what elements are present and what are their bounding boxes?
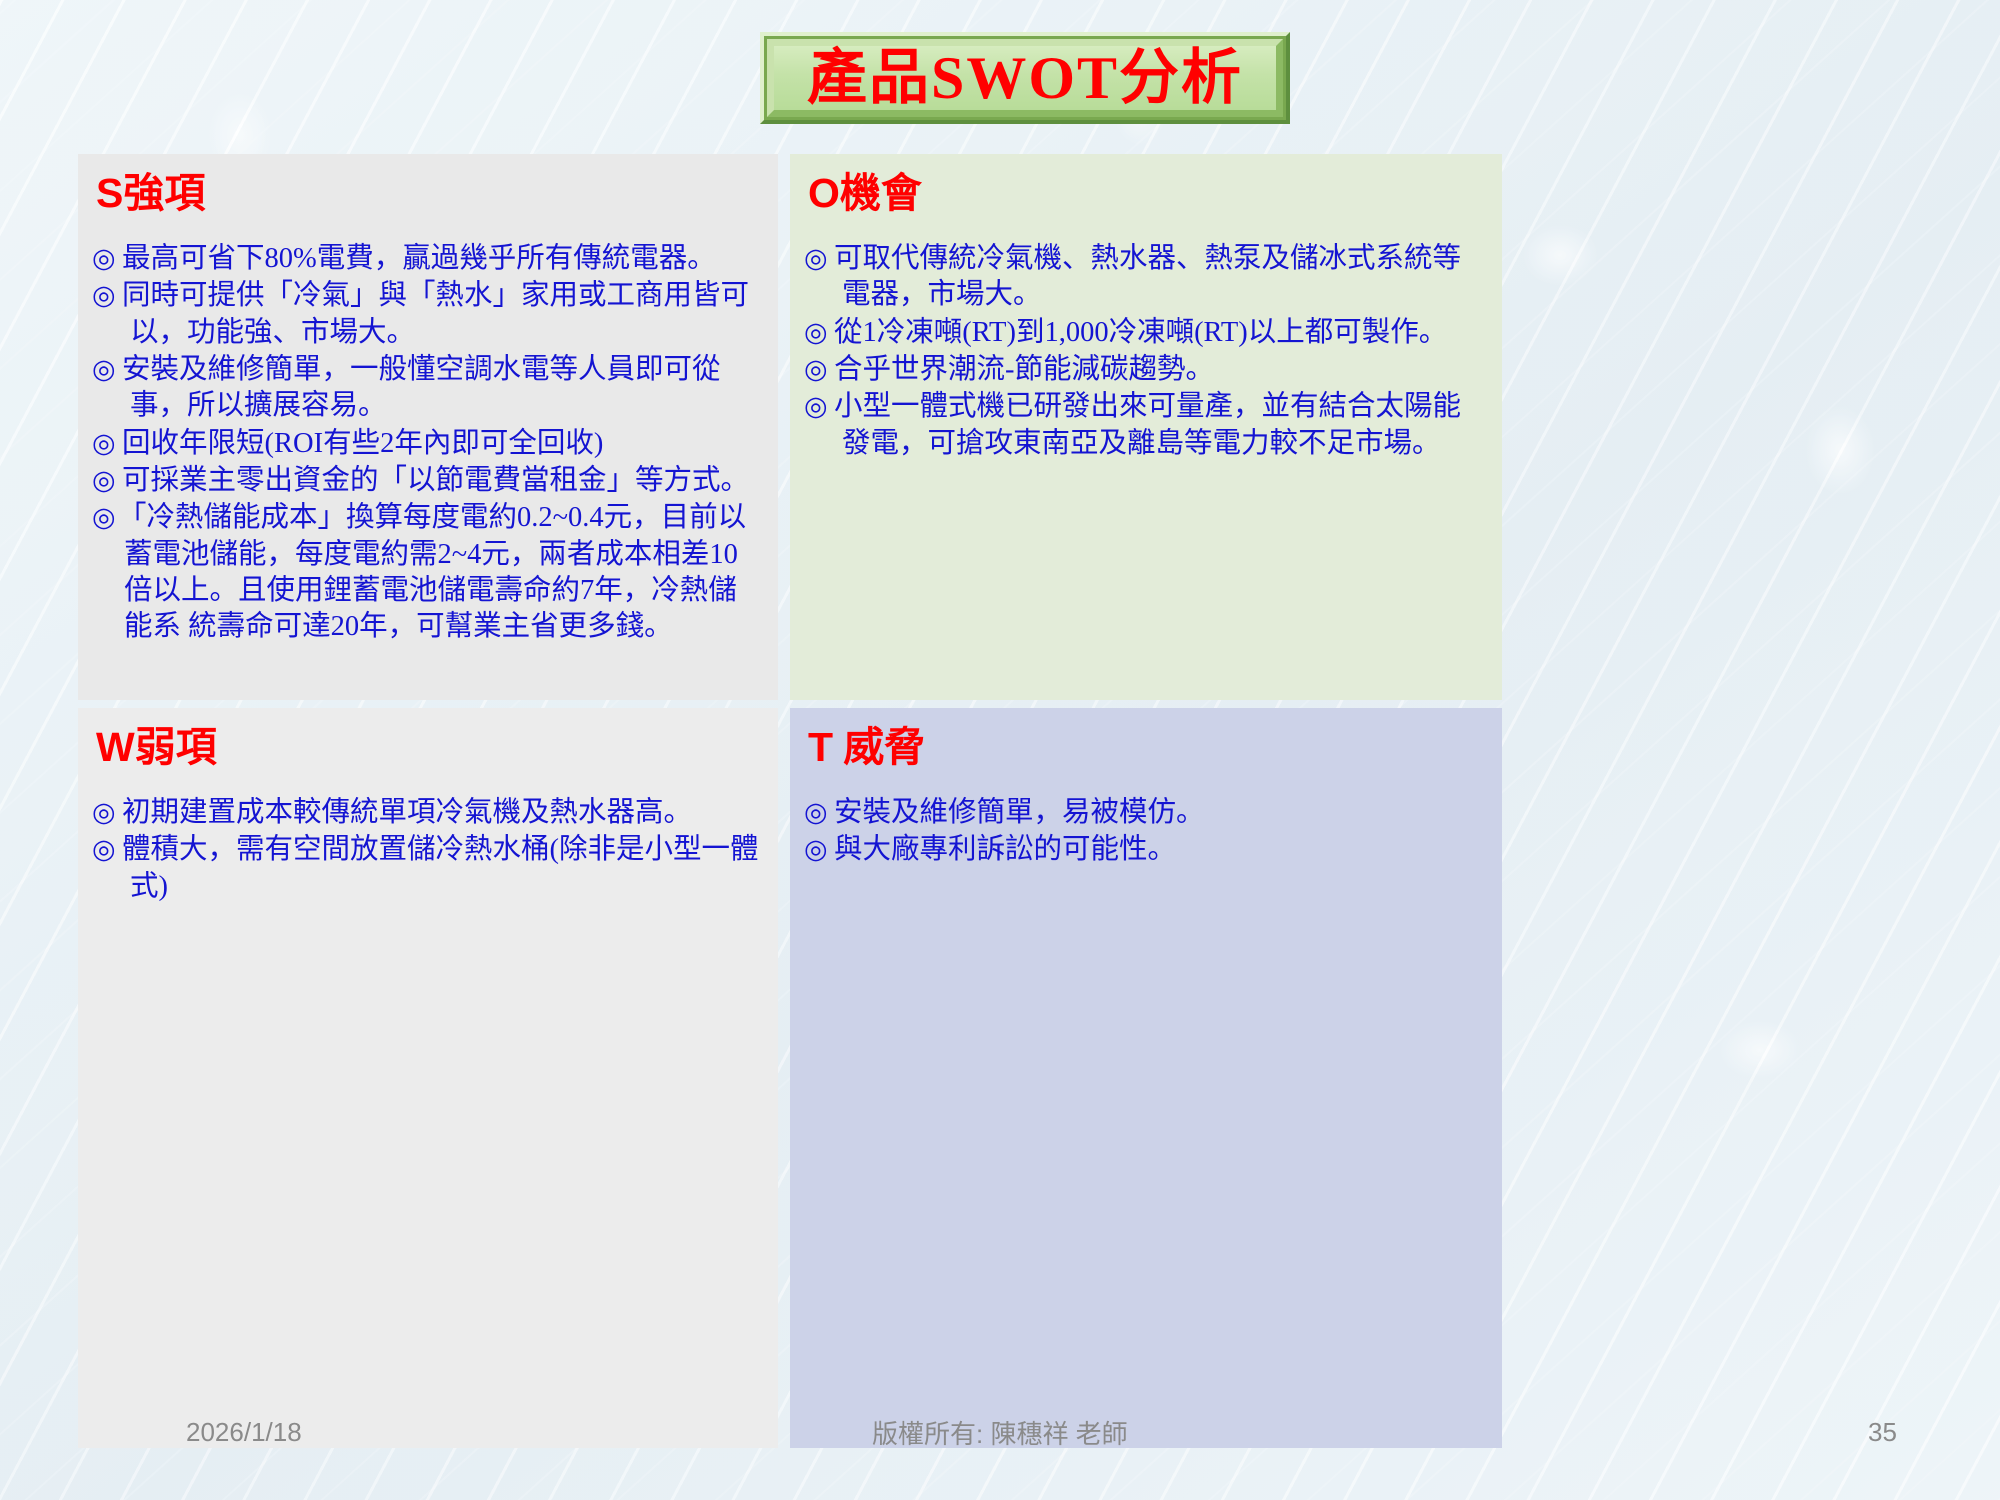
bullet-mark-icon: ◎ <box>92 426 122 460</box>
slide-title-plate: 產品SWOT分析 <box>760 32 1290 124</box>
list-item: ◎與大廠專利訴訟的可能性。 <box>804 832 1488 868</box>
quadrant-key-t: T <box>808 724 833 770</box>
list-item: ◎合乎世界潮流-節能減碳趨勢。 <box>804 352 1488 388</box>
quadrant-heading-weakness: W弱項 <box>96 726 764 769</box>
list-item: ◎安裝及維修簡單，一般懂空調水電等人員即可從事，所以擴展容易。 <box>92 352 764 425</box>
bullet-mark-icon: ◎ <box>92 352 122 386</box>
footer-copyright: 版權所有: 陳穗祥 老師 <box>872 1414 1128 1451</box>
list-item: ◎小型一體式機已研發出來可量產，並有結合太陽能發電，可搶攻東南亞及離島等電力較不… <box>804 389 1488 462</box>
weakness-bullet-list: ◎初期建置成本較傳統單項冷氣機及熱水器高。 ◎體積大，需有空間放置儲冷熱水桶(除… <box>92 795 764 905</box>
list-item-text: 初期建置成本較傳統單項冷氣機及熱水器高。 <box>122 797 692 828</box>
bullet-mark-icon: ◎ <box>92 241 122 275</box>
slide-footer: 2026/1/18 版權所有: 陳穗祥 老師 35 <box>0 1404 2000 1460</box>
bullet-mark-icon: ◎ <box>92 795 122 829</box>
bullet-mark-icon: ◎ <box>92 500 118 534</box>
bullet-mark-icon: ◎ <box>804 389 834 423</box>
list-item-text: 同時可提供「冷氣」與「熱水」家用或工商用皆可以，功能強、市場大。 <box>122 280 749 347</box>
list-item-text: 最高可省下80%電費，贏過幾乎所有傳統電器。 <box>122 243 716 274</box>
strength-bullet-list: ◎最高可省下80%電費，贏過幾乎所有傳統電器。 ◎同時可提供「冷氣」與「熱水」家… <box>92 241 764 646</box>
swot-matrix: S強項 ◎最高可省下80%電費，贏過幾乎所有傳統電器。 ◎同時可提供「冷氣」與「… <box>78 154 1490 1440</box>
list-item-text: 合乎世界潮流-節能減碳趨勢。 <box>834 354 1214 385</box>
list-item: ◎從1冷凍噸(RT)到1,000冷凍噸(RT)以上都可製作。 <box>804 315 1488 351</box>
list-item: ◎初期建置成本較傳統單項冷氣機及熱水器高。 <box>92 795 764 831</box>
quadrant-label-o: 機會 <box>840 170 922 216</box>
bullet-mark-icon: ◎ <box>92 832 122 866</box>
quadrant-heading-opportunity: O機會 <box>808 172 1488 215</box>
footer-date: 2026/1/18 <box>186 1417 302 1448</box>
list-item: ◎可取代傳統冷氣機、熱水器、熱泵及儲冰式系統等電器，市場大。 <box>804 241 1488 314</box>
quadrant-key-w: W <box>96 724 135 770</box>
list-item: ◎同時可提供「冷氣」與「熱水」家用或工商用皆可以，功能強、市場大。 <box>92 278 764 351</box>
bullet-mark-icon: ◎ <box>804 795 834 829</box>
list-item-text: 體積大，需有空間放置儲冷熱水桶(除非是小型一體式) <box>122 834 759 901</box>
swot-quadrant-weakness: W弱項 ◎初期建置成本較傳統單項冷氣機及熱水器高。 ◎體積大，需有空間放置儲冷熱… <box>78 708 778 1448</box>
swot-quadrant-strength: S強項 ◎最高可省下80%電費，贏過幾乎所有傳統電器。 ◎同時可提供「冷氣」與「… <box>78 154 778 700</box>
list-item: ◎體積大，需有空間放置儲冷熱水桶(除非是小型一體式) <box>92 832 764 905</box>
list-item: ◎安裝及維修簡單，易被模仿。 <box>804 795 1488 831</box>
list-item-text: 回收年限短(ROI有些2年內即可全回收) <box>122 428 603 459</box>
list-item-text: 安裝及維修簡單，易被模仿。 <box>834 797 1205 828</box>
list-item: ◎「冷熱儲能成本」換算每度電約0.2~0.4元，目前以蓄電池儲能，每度電約需2~… <box>92 500 764 645</box>
bullet-mark-icon: ◎ <box>804 832 834 866</box>
quadrant-key-s: S <box>96 170 123 216</box>
bullet-mark-icon: ◎ <box>804 315 834 349</box>
list-item-text: 可採業主零出資金的「以節電費當租金」等方式。 <box>122 465 749 496</box>
list-item-text: 可取代傳統冷氣機、熱水器、熱泵及儲冰式系統等電器，市場大。 <box>834 243 1461 310</box>
quadrant-label-w: 弱項 <box>135 724 217 770</box>
quadrant-label-s: 強項 <box>123 170 205 216</box>
quadrant-heading-threat: T 威脅 <box>808 726 1488 769</box>
list-item-text: 與大廠專利訴訟的可能性。 <box>834 834 1176 865</box>
list-item: ◎回收年限短(ROI有些2年內即可全回收) <box>92 426 764 462</box>
quadrant-key-o: O <box>808 170 840 216</box>
page-title: 產品SWOT分析 <box>807 48 1243 108</box>
footer-page-number: 35 <box>1868 1417 1897 1448</box>
quadrant-heading-strength: S強項 <box>96 172 764 215</box>
list-item-text: 從1冷凍噸(RT)到1,000冷凍噸(RT)以上都可製作。 <box>834 317 1447 348</box>
list-item-text: 「冷熱儲能成本」換算每度電約0.2~0.4元，目前以蓄電池儲能，每度電約需2~4… <box>118 502 746 642</box>
swot-quadrant-opportunity: O機會 ◎可取代傳統冷氣機、熱水器、熱泵及儲冰式系統等電器，市場大。 ◎從1冷凍… <box>790 154 1502 700</box>
threat-bullet-list: ◎安裝及維修簡單，易被模仿。 ◎與大廠專利訴訟的可能性。 <box>804 795 1488 869</box>
bullet-mark-icon: ◎ <box>92 278 122 312</box>
quadrant-label-t: 威脅 <box>833 724 925 770</box>
bullet-mark-icon: ◎ <box>804 352 834 386</box>
slide-title-inner-bevel: 產品SWOT分析 <box>767 39 1283 117</box>
list-item: ◎最高可省下80%電費，贏過幾乎所有傳統電器。 <box>92 241 764 277</box>
list-item: ◎可採業主零出資金的「以節電費當租金」等方式。 <box>92 463 764 499</box>
bullet-mark-icon: ◎ <box>92 463 122 497</box>
bullet-mark-icon: ◎ <box>804 241 834 275</box>
opportunity-bullet-list: ◎可取代傳統冷氣機、熱水器、熱泵及儲冰式系統等電器，市場大。 ◎從1冷凍噸(RT… <box>804 241 1488 462</box>
list-item-text: 安裝及維修簡單，一般懂空調水電等人員即可從事，所以擴展容易。 <box>122 354 721 421</box>
list-item-text: 小型一體式機已研發出來可量產，並有結合太陽能發電，可搶攻東南亞及離島等電力較不足… <box>834 391 1461 458</box>
swot-quadrant-threat: T 威脅 ◎安裝及維修簡單，易被模仿。 ◎與大廠專利訴訟的可能性。 <box>790 708 1502 1448</box>
